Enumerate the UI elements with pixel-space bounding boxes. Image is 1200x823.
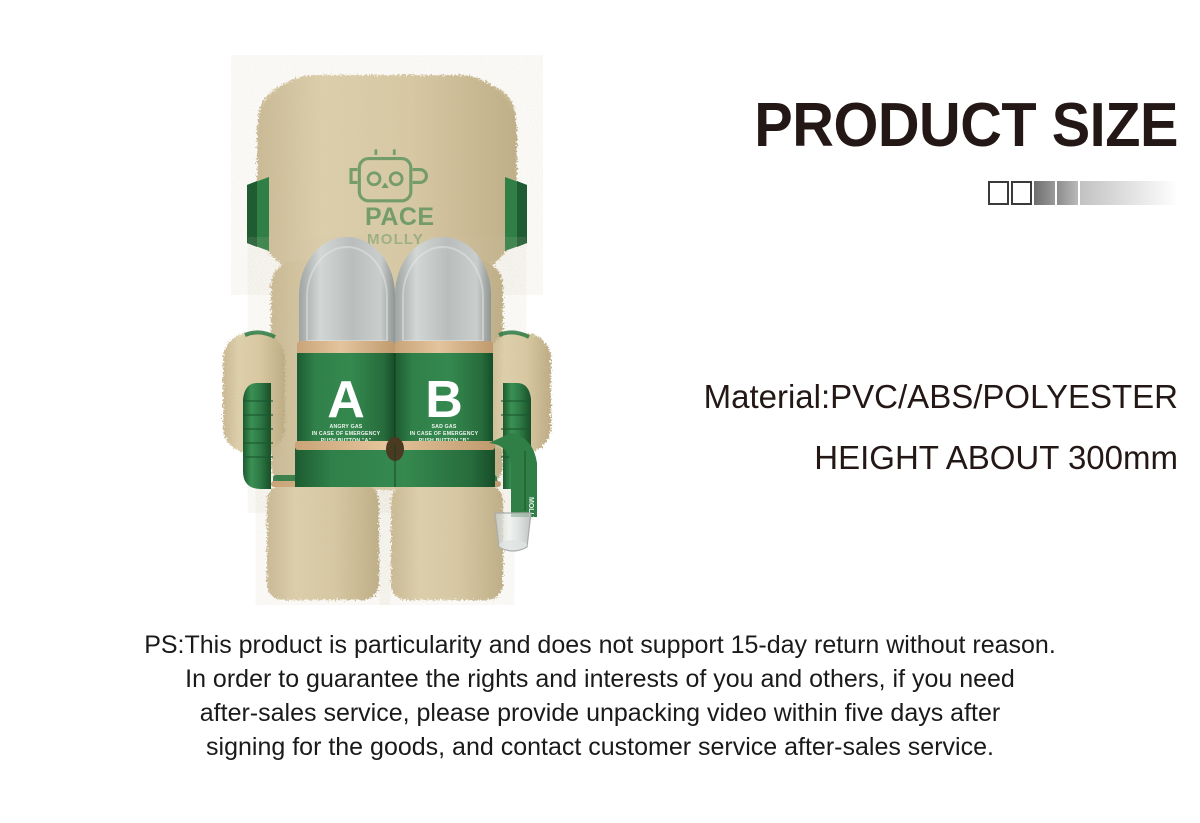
product-image: PACE MOLLY — [195, 45, 595, 605]
outline-square-2 — [1011, 181, 1032, 205]
gradient-square-1 — [1034, 181, 1055, 205]
logo-word-pace: PACE — [365, 203, 435, 231]
gradient-bar — [1080, 181, 1178, 205]
outline-square-1 — [988, 181, 1009, 205]
spec-material: Material:PVC/ABS/POLYESTER — [558, 380, 1178, 413]
headphone-pad-left — [247, 177, 269, 251]
logo-word-molly: MOLLY — [367, 231, 424, 248]
header-block: PRODUCT SIZE — [618, 95, 1178, 205]
page-title: PRODUCT SIZE — [657, 95, 1178, 157]
canister-caption-b-2: IN CASE OF EMERGENCY — [410, 431, 479, 437]
gradient-square-2 — [1057, 181, 1078, 205]
gradient-swatch-row — [618, 181, 1178, 205]
bear-legs — [267, 475, 503, 600]
disclaimer-line-4: signing for the goods, and contact custo… — [0, 730, 1200, 764]
canister-caption-a-2: IN CASE OF EMERGENCY — [312, 431, 381, 437]
canister-caption-a-1: ANGRY GAS — [330, 424, 363, 430]
disclaimer-block: PS:This product is particularity and doe… — [0, 628, 1200, 764]
headphone-pad-right — [505, 177, 527, 251]
spec-height: HEIGHT ABOUT 300mm — [558, 441, 1178, 474]
disclaimer-line-2: In order to guarantee the rights and int… — [0, 662, 1200, 696]
specs-block: Material:PVC/ABS/POLYESTER HEIGHT ABOUT … — [558, 380, 1178, 474]
product-illustration: PACE MOLLY — [195, 45, 595, 605]
canister-letter-a: A — [327, 371, 365, 429]
tank-collar-b — [395, 341, 493, 355]
disclaimer-line-1: PS:This product is particularity and doe… — [0, 628, 1200, 662]
disclaimer-line-3: after-sales service, please provide unpa… — [0, 696, 1200, 730]
canister-letter-b: B — [425, 371, 463, 429]
canister-caption-b-1: SAD GAS — [431, 424, 456, 430]
tank-collar-a — [297, 341, 395, 355]
product-size-page: PACE MOLLY — [0, 0, 1200, 823]
